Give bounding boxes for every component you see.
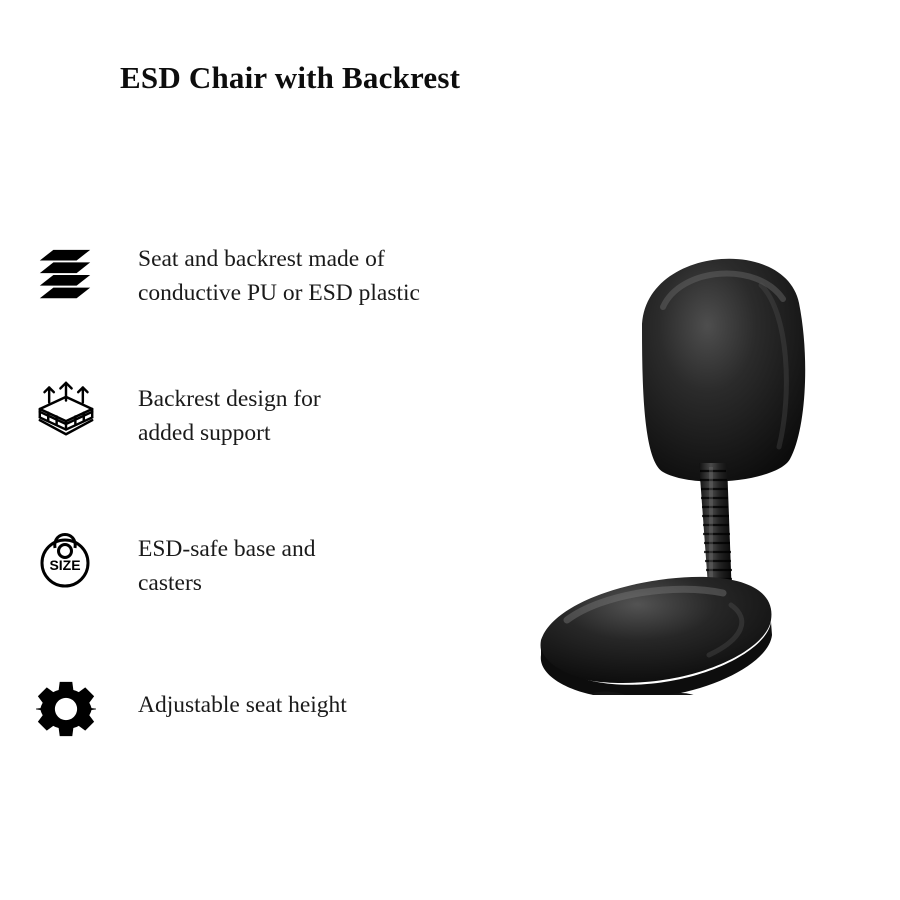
feature-text: Backrest design for added support (138, 382, 538, 450)
feature-item: Adjustable seat height (0, 666, 520, 766)
feature-text-line: ESD-safe base and (138, 532, 538, 566)
feature-item: Seat and backrest made of conductive PU … (0, 228, 520, 328)
feature-text-line: Backrest design for (138, 382, 538, 416)
gear-icon (36, 680, 96, 738)
page-title: ESD Chair with Backrest (120, 60, 460, 96)
feature-text: Adjustable seat height (138, 688, 538, 722)
feature-text-line: conductive PU or ESD plastic (138, 276, 538, 310)
esd-chair-photo (495, 195, 895, 695)
feature-text-line: added support (138, 416, 538, 450)
size-tag-label: SIZE (49, 557, 80, 573)
layered-support-panel-icon (32, 380, 100, 438)
feature-text-line: casters (138, 566, 538, 600)
infographic-canvas: ESD Chair with Backrest Seat and backres… (0, 0, 900, 900)
feature-text: ESD-safe base and casters (138, 532, 538, 600)
feature-item: SIZE ESD-safe base and casters (0, 516, 520, 616)
feature-text-line: Adjustable seat height (138, 688, 538, 722)
backrest-cushion (642, 259, 805, 482)
feature-text: Seat and backrest made of conductive PU … (138, 242, 538, 310)
feature-text-line: Seat and backrest made of (138, 242, 538, 276)
size-tag-icon: SIZE (36, 518, 94, 590)
seat-cushion (541, 577, 772, 695)
stacked-layers-icon (34, 244, 96, 306)
feature-item: Backrest design for added support (0, 368, 520, 468)
